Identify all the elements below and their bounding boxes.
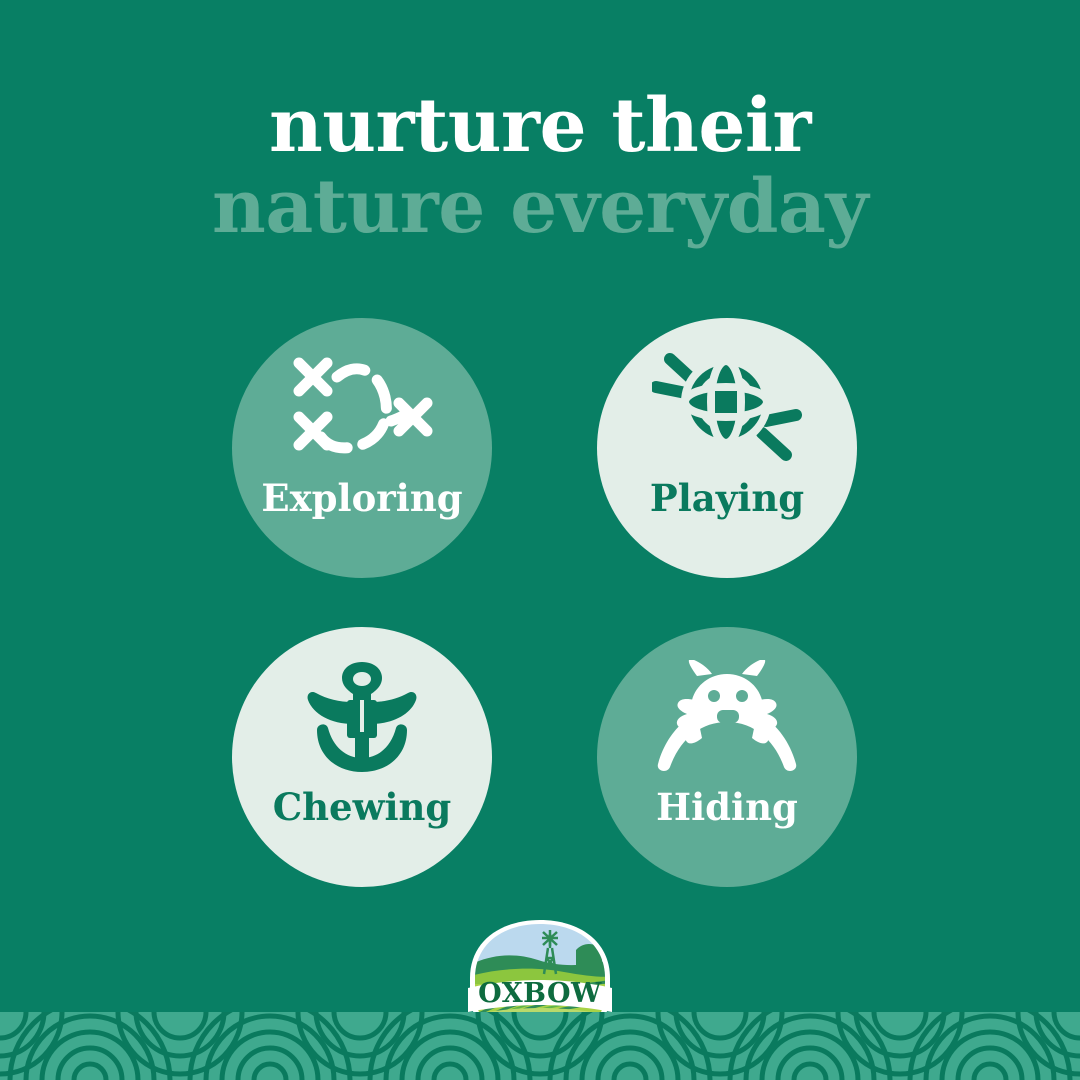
chew-toy-icon xyxy=(287,657,437,775)
poster-canvas: nurture their nature everyday xyxy=(0,0,1080,1080)
headline-line-1: nurture their xyxy=(0,86,1080,166)
tile-hiding[interactable]: Hiding xyxy=(597,627,857,887)
concentric-arcs-pattern xyxy=(0,1012,1080,1080)
tile-chewing[interactable]: Chewing xyxy=(232,627,492,887)
headline-line-2: nature everyday xyxy=(0,166,1080,248)
tile-label-hiding: Hiding xyxy=(656,787,798,827)
dashed-path-x-marks-icon xyxy=(287,348,437,466)
headline: nurture their nature everyday xyxy=(0,86,1080,248)
tile-playing[interactable]: Playing xyxy=(597,318,857,578)
tile-label-chewing: Chewing xyxy=(273,787,452,827)
tile-exploring[interactable]: Exploring xyxy=(232,318,492,578)
tile-label-exploring: Exploring xyxy=(261,478,462,518)
tile-label-playing: Playing xyxy=(650,478,804,518)
logo-brand-text: OXBOW xyxy=(478,978,602,1009)
ball-motion-lines-icon xyxy=(652,348,802,466)
animal-peeking-icon xyxy=(652,657,802,775)
